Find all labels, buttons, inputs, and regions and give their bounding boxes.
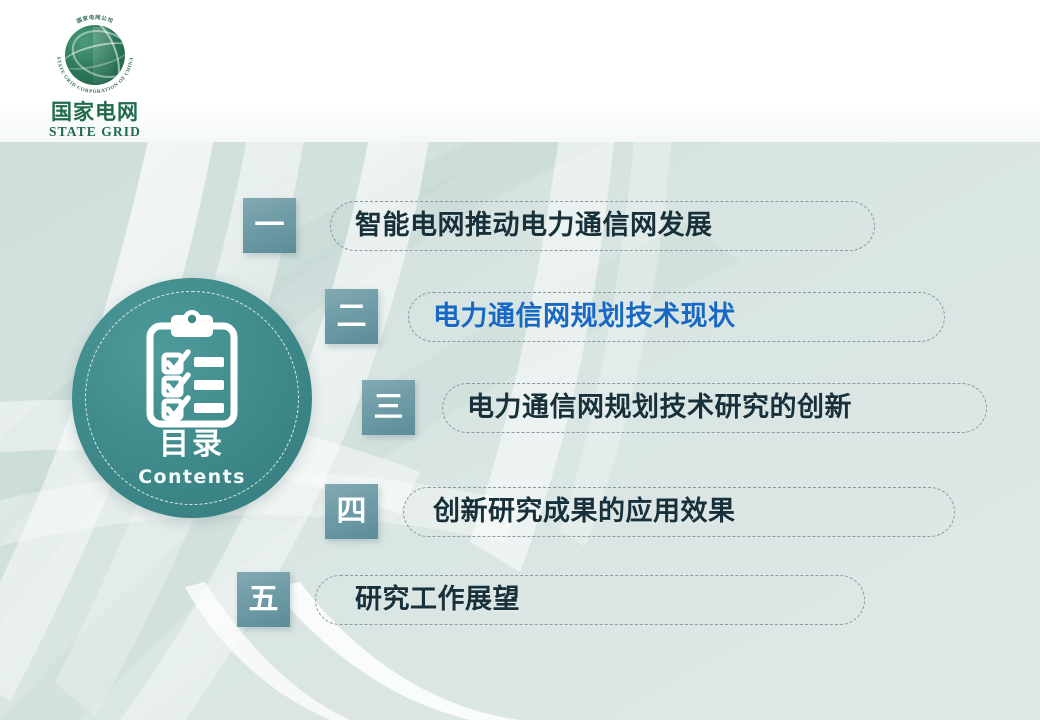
logo-company-cn: 国家电网 <box>30 100 160 124</box>
toc-number-4: 四 <box>325 484 378 539</box>
slide-header-band: STATE GRID CORPORATION OF CHINA 国家电网公司 国… <box>0 0 1040 142</box>
state-grid-globe-icon: STATE GRID CORPORATION OF CHINA 国家电网公司 <box>52 12 138 98</box>
toc-number-2: 二 <box>325 289 378 344</box>
toc-label-2[interactable]: 电力通信网规划技术现状 <box>433 292 736 342</box>
toc-number-3: 三 <box>362 380 415 435</box>
globe-sphere <box>65 25 125 85</box>
toc-label-5[interactable]: 研究工作展望 <box>355 575 520 625</box>
toc-label-4[interactable]: 创新研究成果的应用效果 <box>433 487 736 537</box>
logo-ring-text-cn: 国家电网公司 <box>75 13 114 25</box>
globe-band <box>65 37 125 75</box>
toc-number-5: 五 <box>237 572 290 627</box>
state-grid-logo: STATE GRID CORPORATION OF CHINA 国家电网公司 国… <box>30 12 160 140</box>
slide-canvas: STATE GRID CORPORATION OF CHINA 国家电网公司 国… <box>0 0 1040 720</box>
toc-label-3[interactable]: 电力通信网规划技术研究的创新 <box>467 383 852 433</box>
logo-company-en: STATE GRID <box>30 124 160 140</box>
toc-label-1[interactable]: 智能电网推动电力通信网发展 <box>355 201 713 251</box>
toc-number-1: 一 <box>243 198 296 253</box>
globe-highlight <box>93 27 115 83</box>
